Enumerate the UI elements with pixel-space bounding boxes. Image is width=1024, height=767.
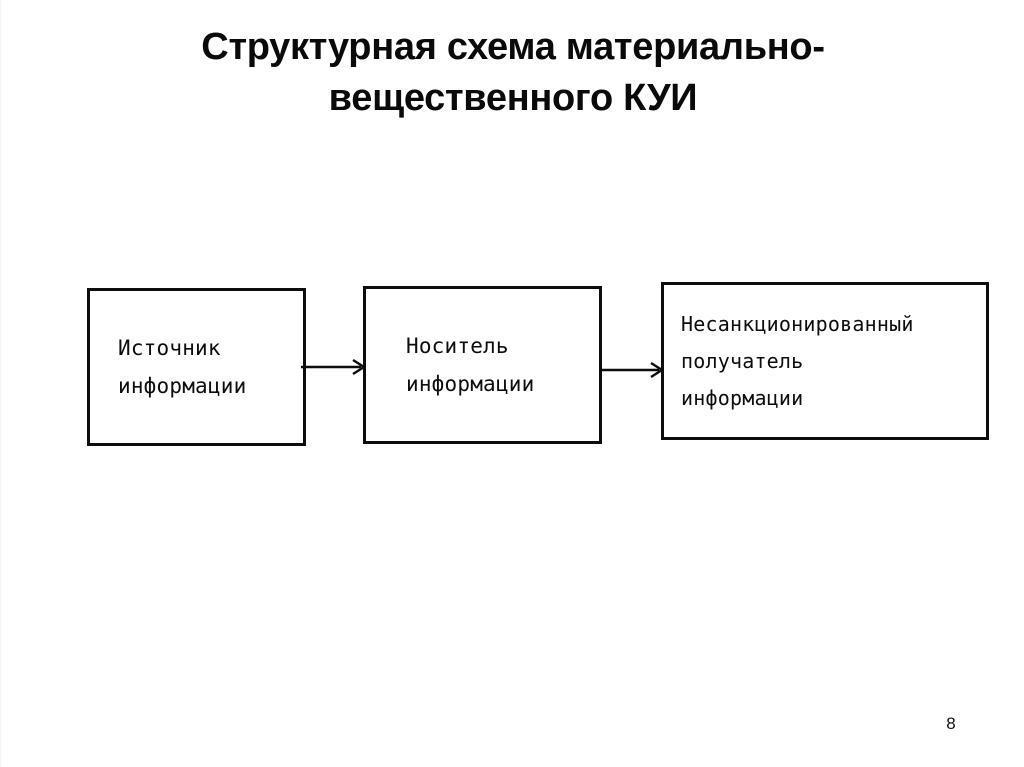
arrow-right-icon: [301, 357, 367, 377]
node-receiver-line-3: информации: [681, 380, 986, 417]
diagram-node-receiver[interactable]: Несанкционированный получатель информаци…: [661, 282, 989, 440]
diagram-node-carrier[interactable]: Носитель информации: [363, 286, 602, 444]
page-number: 8: [931, 714, 971, 734]
arrow-carrier-to-receiver: [599, 360, 665, 380]
block-diagram: Источник информации Носитель информации …: [1, 0, 1024, 767]
arrow-source-to-carrier: [301, 357, 367, 377]
node-source-line-2: информации: [118, 367, 303, 405]
node-source-line-1: Источник: [118, 329, 303, 367]
diagram-node-source[interactable]: Источник информации: [87, 288, 306, 446]
arrow-right-icon: [599, 360, 665, 380]
node-receiver-line-2: получатель: [681, 343, 986, 380]
node-carrier-line-2: информации: [406, 365, 599, 403]
slide-canvas: Структурная схема материально-вещественн…: [0, 0, 1024, 767]
node-receiver-line-1: Несанкционированный: [681, 306, 986, 343]
node-carrier-line-1: Носитель: [406, 327, 599, 365]
